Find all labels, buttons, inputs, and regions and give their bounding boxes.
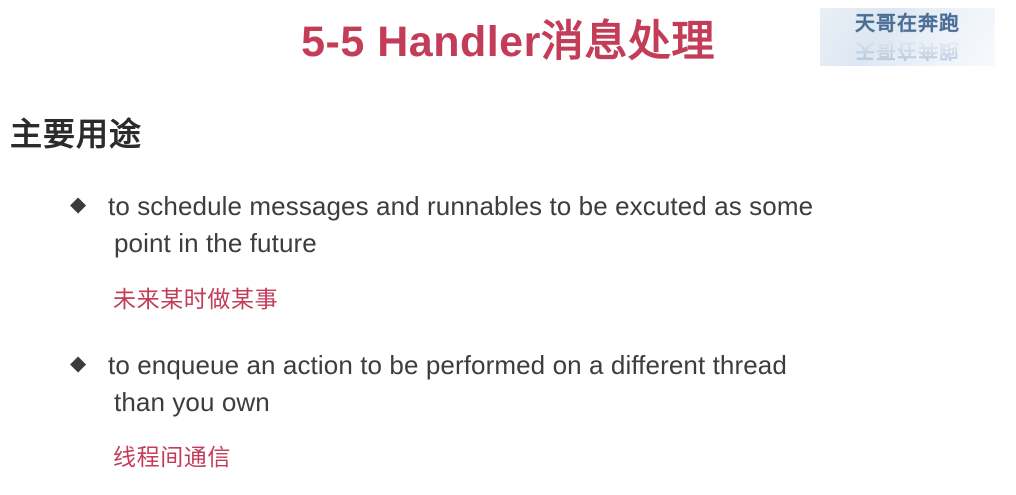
bullet-line-2: than you own	[108, 384, 1010, 421]
watermark-reflection-text: 天哥在奔跑	[820, 37, 995, 63]
watermark-badge: 天哥在奔跑 天哥在奔跑	[820, 8, 995, 66]
bullet-item-2: ◆ to enqueue an action to be performed o…	[70, 347, 1010, 421]
bullet-row: ◆ to schedule messages and runnables to …	[70, 188, 1010, 262]
bullet-note-1: 未来某时做某事	[113, 283, 278, 315]
bullet-line-2: point in the future	[108, 225, 1010, 262]
diamond-bullet-icon: ◆	[70, 347, 92, 381]
bullet-line-1: to enqueue an action to be performed on …	[108, 350, 787, 380]
bullet-line-1: to schedule messages and runnables to be…	[108, 191, 813, 221]
section-heading: 主要用途	[10, 112, 142, 156]
bullet-text-1: to schedule messages and runnables to be…	[92, 188, 1010, 262]
bullet-row: ◆ to enqueue an action to be performed o…	[70, 347, 1010, 421]
bullet-text-2: to enqueue an action to be performed on …	[92, 347, 1010, 421]
bullet-note-2: 线程间通信	[113, 441, 231, 473]
watermark-text: 天哥在奔跑	[820, 11, 995, 37]
slide-canvas: 5-5 Handler消息处理 天哥在奔跑 天哥在奔跑 主要用途 ◆ to sc…	[0, 0, 1016, 495]
bullet-item-1: ◆ to schedule messages and runnables to …	[70, 188, 1010, 262]
diamond-bullet-icon: ◆	[70, 188, 92, 222]
